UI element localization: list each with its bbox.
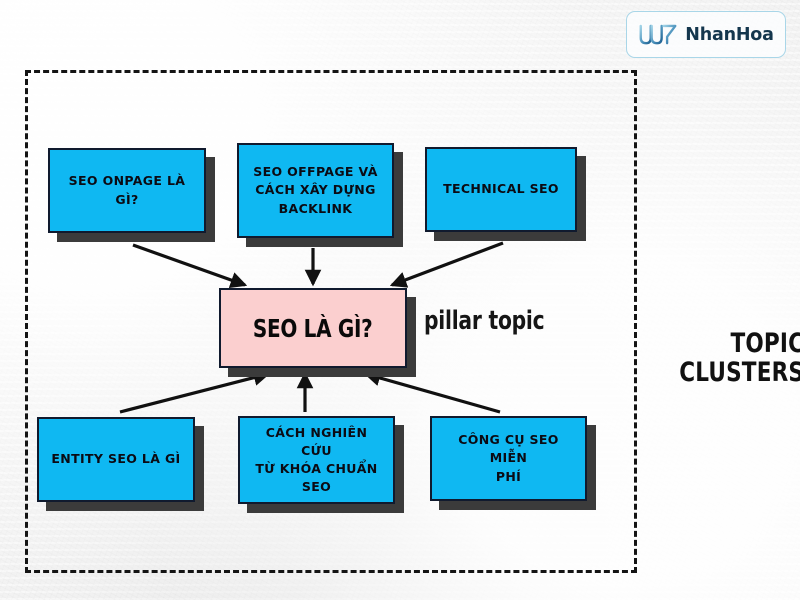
arrow-tools-to-pillar	[366, 374, 500, 412]
pillar-topic-annotation: pillar topic	[424, 306, 544, 336]
diagram-title-text: TOPIC CLUSTERS	[679, 329, 800, 387]
cluster-node-offpage[interactable]: SEO OFFPAGE VÀ CÁCH XÂY DỰNG BACKLINK	[237, 143, 394, 238]
diagram-canvas: NhanHoa SEO ONPAGE LÀ GÌ? SEO O	[0, 0, 800, 600]
pillar-node-label: SEO LÀ GÌ?	[253, 314, 372, 343]
cluster-node-tools[interactable]: CÔNG CỤ SEO MIỄN PHÍ	[430, 416, 587, 501]
diagram-title: TOPIC CLUSTERS	[648, 300, 788, 387]
cluster-node-technical[interactable]: TECHNICAL SEO	[425, 147, 577, 232]
cluster-node-label: ENTITY SEO LÀ GÌ	[51, 450, 180, 468]
pillar-node-seo-la-gi[interactable]: SEO LÀ GÌ?	[219, 288, 407, 368]
arrow-entity-to-pillar	[120, 374, 268, 412]
cluster-node-label: SEO ONPAGE LÀ GÌ?	[69, 172, 186, 208]
cluster-node-label: SEO OFFPAGE VÀ CÁCH XÂY DỰNG BACKLINK	[253, 163, 377, 217]
cluster-node-keyword[interactable]: CÁCH NGHIÊN CỨU TỪ KHÓA CHUẨN SEO	[238, 416, 395, 504]
cluster-node-label: CÁCH NGHIÊN CỨU TỪ KHÓA CHUẨN SEO	[250, 424, 383, 497]
cluster-node-label: TECHNICAL SEO	[443, 180, 559, 198]
arrow-onpage-to-pillar	[133, 245, 245, 285]
cluster-node-entity[interactable]: ENTITY SEO LÀ GÌ	[37, 417, 195, 502]
arrow-technical-to-pillar	[392, 243, 503, 285]
cluster-node-label: CÔNG CỤ SEO MIỄN PHÍ	[442, 431, 575, 485]
cluster-node-onpage[interactable]: SEO ONPAGE LÀ GÌ?	[48, 148, 206, 233]
